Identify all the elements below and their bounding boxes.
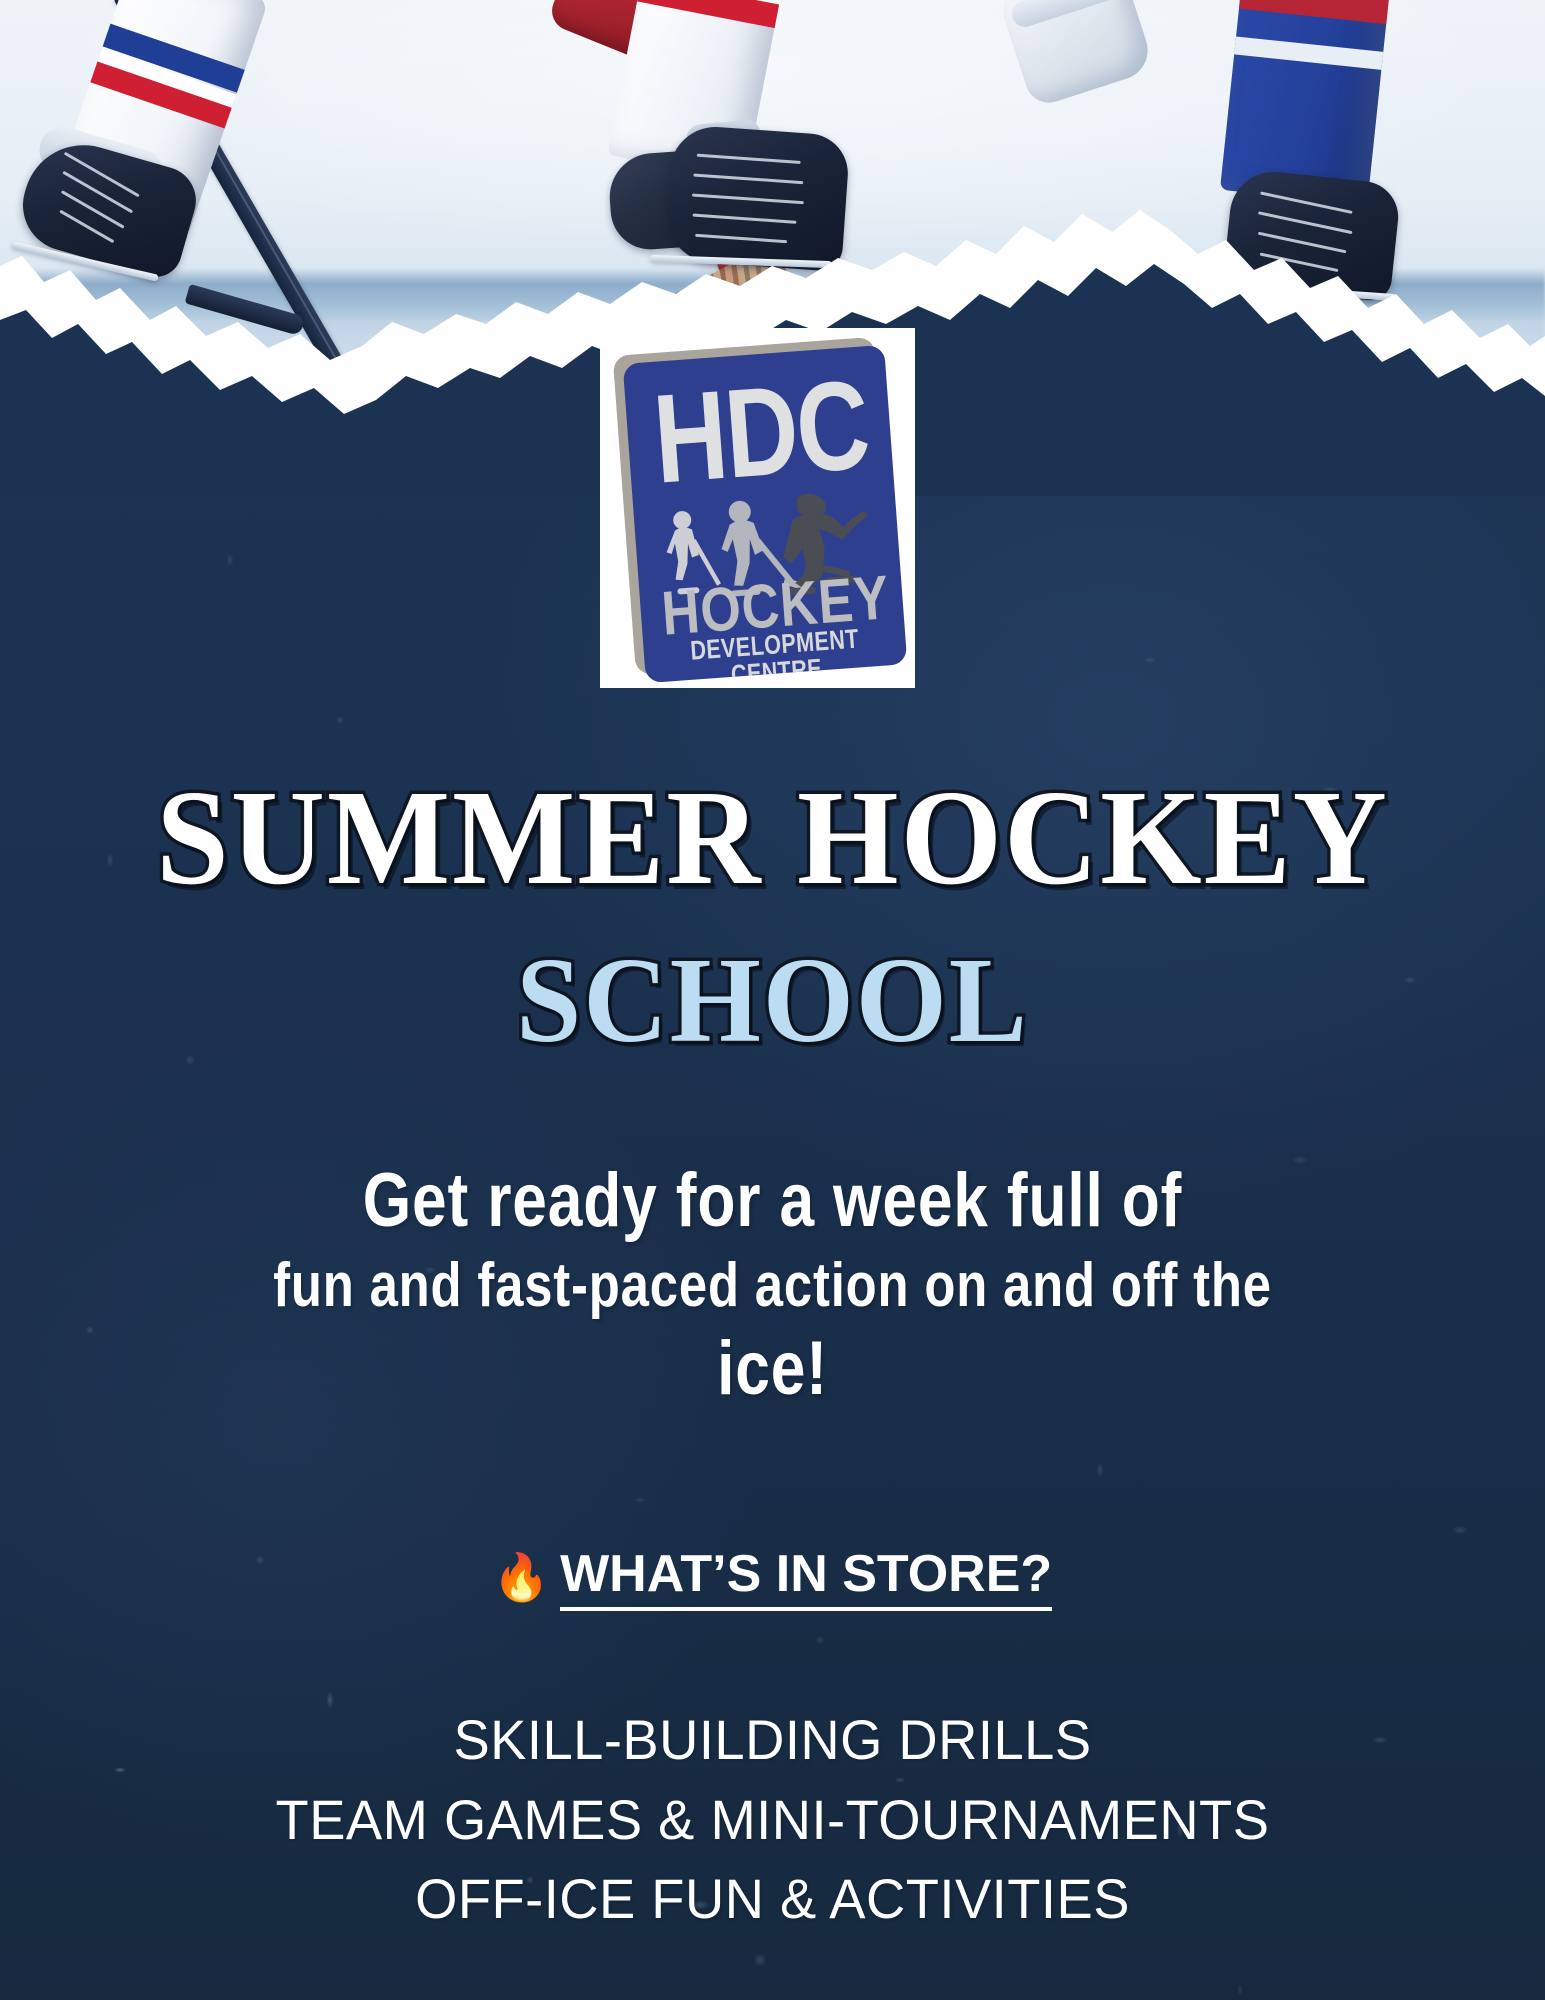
subtitle-line-2: fun and fast-paced action on and off the [164, 1248, 1382, 1324]
logo-blue-tile: HDC [623, 345, 908, 683]
subtitle-block: Get ready for a week full of fun and fas… [164, 1155, 1382, 1416]
headline-line-2: SCHOOL [31, 940, 1514, 1062]
list-item: TEAM GAMES & MINI-TOURNAMENTS [23, 1780, 1522, 1860]
subtitle-line-1: Get ready for a week full of [164, 1155, 1382, 1248]
logo-monogram: HDC [650, 367, 868, 498]
hdc-logo: HDC [600, 328, 915, 688]
subtitle-line-3: ice! [164, 1323, 1382, 1416]
whats-in-store-heading: 🔥WHAT’S IN STORE? [0, 1546, 1545, 1603]
list-item: OFF-ICE FUN & ACTIVITIES [23, 1859, 1522, 1939]
whats-in-store-label: WHAT’S IN STORE? [560, 1545, 1052, 1611]
store-items-list: SKILL-BUILDING DRILLS TEAM GAMES & MINI-… [23, 1700, 1522, 1939]
summer-hockey-school-poster: HDC [0, 0, 1545, 2000]
headline-line-1: SUMMER HOCKEY [31, 770, 1514, 906]
fire-icon: 🔥 [493, 1554, 550, 1600]
list-item: SKILL-BUILDING DRILLS [23, 1700, 1522, 1780]
